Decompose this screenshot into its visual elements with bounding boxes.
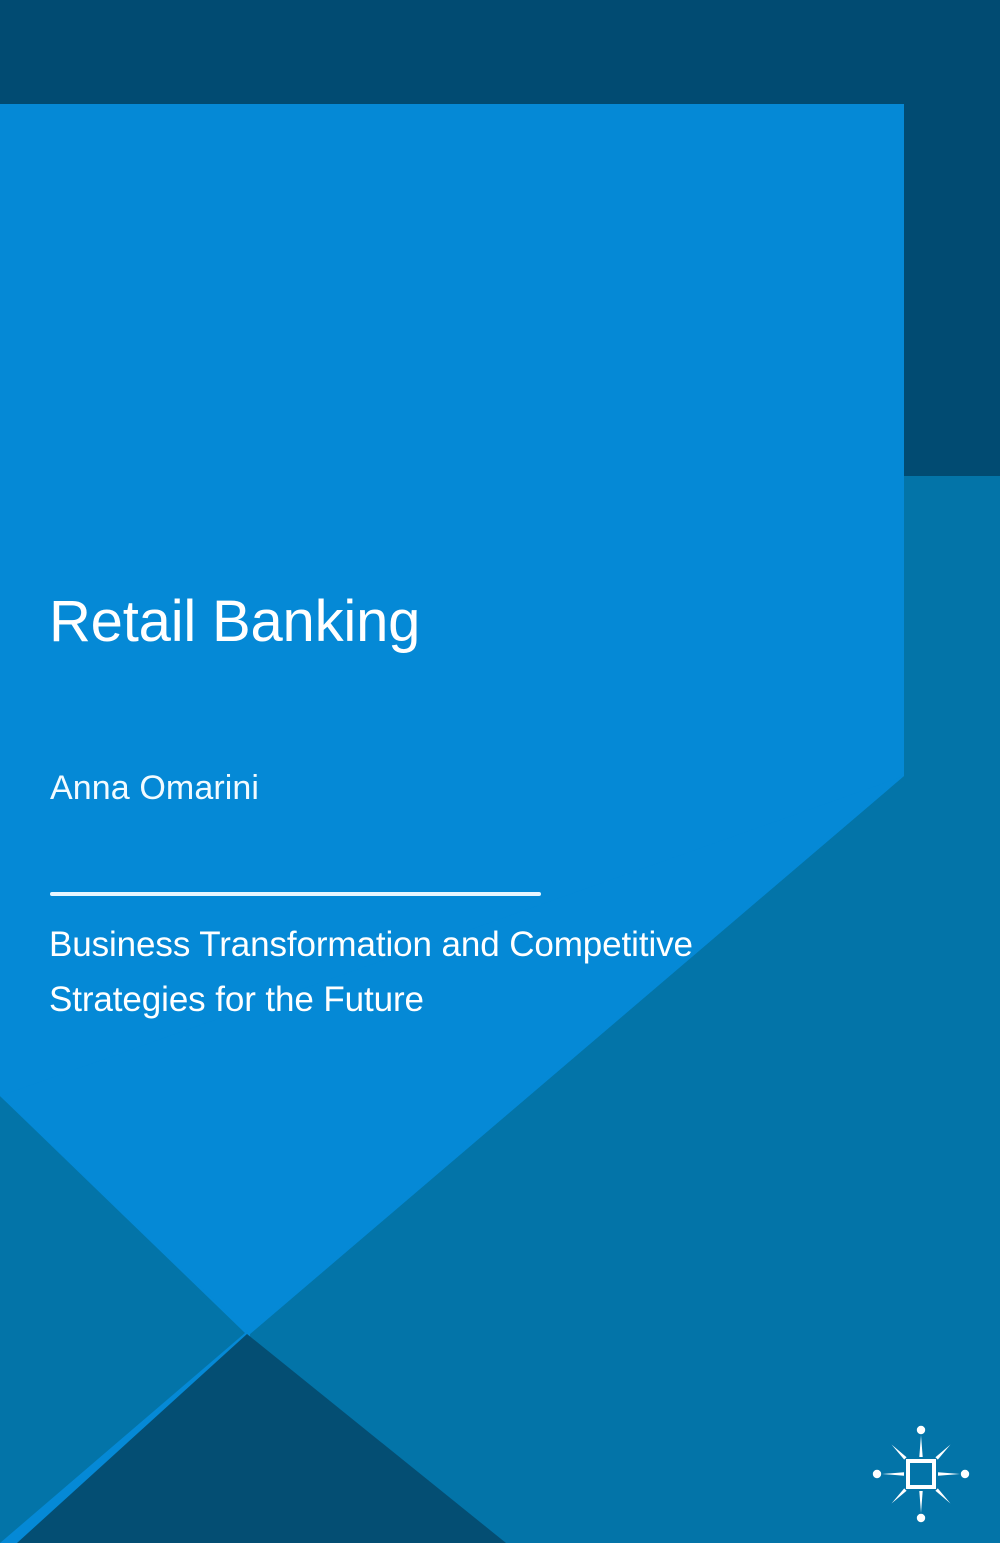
palgrave-macmillan-starburst-icon	[866, 1419, 976, 1529]
publisher-logo	[866, 1419, 976, 1529]
bg-top-navy-band	[0, 0, 1000, 104]
book-cover: Retail Banking Anna Omarini Business Tra…	[0, 0, 1000, 1543]
bg-right-navy-column	[904, 104, 1000, 476]
cover-background-artwork	[0, 0, 1000, 1543]
bg-bright-panel	[0, 104, 904, 776]
